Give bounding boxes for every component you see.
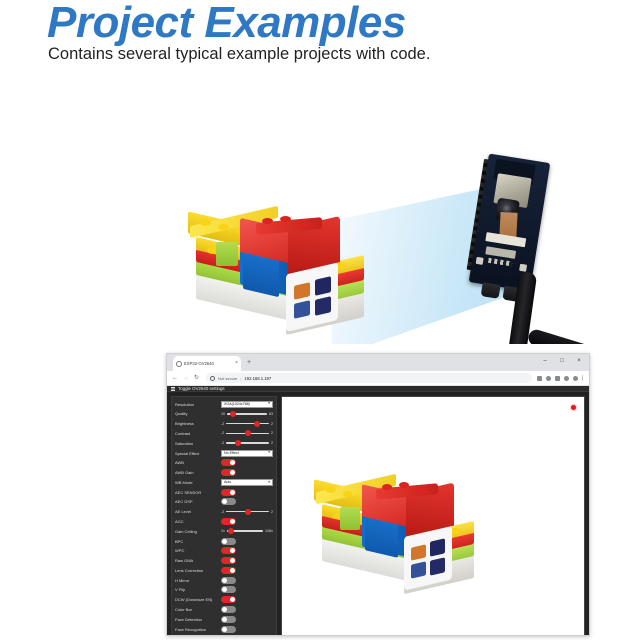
- setting-control: -22: [221, 431, 273, 435]
- setting-label: H Mirror: [175, 578, 218, 583]
- setting-toggle[interactable]: [221, 606, 236, 613]
- setting-toggle[interactable]: [221, 547, 236, 554]
- balcony-support-green: [216, 242, 238, 266]
- toggle-knob: [230, 548, 235, 553]
- setting-control: XGA(1024x768)▾: [221, 401, 273, 408]
- setting-label: WB Mode: [175, 480, 218, 485]
- slider-track[interactable]: [226, 442, 269, 444]
- setting-row: Gain Ceiling2x128x: [175, 527, 273, 535]
- setting-toggle[interactable]: [221, 538, 236, 545]
- setting-row: Quality1063: [175, 410, 273, 418]
- hamburger-icon: [171, 387, 175, 391]
- s-balcony-stud: [343, 491, 353, 497]
- setting-control: Auto▾: [221, 479, 273, 486]
- setting-control: 2x128x: [221, 529, 273, 533]
- extension-icon[interactable]: [537, 376, 542, 381]
- window-close-button[interactable]: ×: [575, 358, 583, 364]
- setting-control: -22: [221, 422, 273, 426]
- toggle-knob: [222, 607, 227, 612]
- setting-row: Lens Correction: [175, 566, 273, 574]
- toggle-knob: [230, 558, 235, 563]
- toggle-knob: [230, 597, 235, 602]
- setting-toggle[interactable]: [221, 459, 236, 466]
- address-bar[interactable]: Not secure | 192.168.1.197: [206, 373, 532, 383]
- slider-max-label: 63: [269, 412, 273, 416]
- setting-slider[interactable]: -22: [221, 510, 273, 514]
- toggle-knob: [230, 490, 235, 495]
- toggle-knob: [222, 627, 227, 632]
- setting-control: -22: [221, 441, 273, 445]
- setting-control: [221, 498, 273, 505]
- setting-row: AWB: [175, 459, 273, 467]
- page-subtitle: Contains several typical example project…: [48, 45, 430, 64]
- setting-label: Resolution: [175, 402, 218, 407]
- setting-row: Special EffectNo Effect▾: [175, 449, 273, 457]
- setting-control: -22: [221, 510, 273, 514]
- menu-dots-icon[interactable]: [582, 375, 584, 381]
- window-minimize-button[interactable]: –: [541, 358, 549, 364]
- esp32-camera-board: [459, 144, 566, 307]
- slider-track[interactable]: [227, 413, 267, 415]
- setting-toggle[interactable]: [221, 626, 236, 633]
- toggle-knob: [222, 587, 227, 592]
- setting-label: BPC: [175, 539, 218, 544]
- setting-control: [221, 606, 273, 613]
- setting-row: BPC: [175, 537, 273, 545]
- setting-slider[interactable]: 2x128x: [221, 529, 273, 533]
- setting-toggle[interactable]: [221, 586, 236, 593]
- slider-knob[interactable]: [245, 509, 251, 515]
- setting-dropdown[interactable]: No Effect▾: [221, 450, 273, 457]
- setting-toggle[interactable]: [221, 577, 236, 584]
- security-status-label: Not secure: [218, 376, 237, 381]
- dropdown-value: XGA(1024x768): [224, 402, 250, 406]
- slider-min-label: -2: [221, 441, 224, 445]
- roof-stud: [280, 216, 291, 222]
- toggle-knob: [222, 578, 227, 583]
- setting-label: AE Level: [175, 509, 218, 514]
- dropdown-value: No Effect: [224, 451, 239, 455]
- setting-label: Saturation: [175, 441, 218, 446]
- window-maximize-button[interactable]: □: [558, 358, 566, 364]
- ffc-connector: [485, 232, 526, 247]
- new-tab-button[interactable]: +: [247, 359, 251, 366]
- tab-title: ESP32-OV2640: [184, 361, 214, 366]
- setting-row: H Mirror: [175, 576, 273, 584]
- toggle-knob: [230, 460, 235, 465]
- s-balcony-support-green: [340, 507, 360, 530]
- slider-track[interactable]: [227, 530, 263, 532]
- setting-label: Special Effect: [175, 451, 218, 456]
- s-roof-stud: [382, 484, 392, 490]
- camera-stream-viewport: [281, 396, 585, 636]
- star-icon[interactable]: [546, 376, 551, 381]
- setting-dropdown[interactable]: XGA(1024x768)▾: [221, 401, 273, 408]
- toggle-knob: [230, 568, 235, 573]
- setting-control: [221, 567, 273, 574]
- tab-favicon-icon: [176, 361, 182, 367]
- browser-window: ESP32-OV2640 × + – □ × ← → ↻ Not secure …: [166, 353, 590, 636]
- setting-label: AWB: [175, 460, 218, 465]
- setting-label: Brightness: [175, 421, 218, 426]
- reset-button[interactable]: [476, 257, 484, 265]
- slider-max-label: 2: [271, 441, 273, 445]
- setting-label: Lens Correction: [175, 568, 218, 573]
- setting-row: Brightness-22: [175, 420, 273, 428]
- setting-row: Contrast-22: [175, 429, 273, 437]
- setting-control: 1063: [221, 412, 273, 416]
- setting-row: WPC: [175, 547, 273, 555]
- toggle-knob: [230, 519, 235, 524]
- usb-port-a: [481, 282, 501, 299]
- info-circle-icon: [210, 376, 215, 381]
- setting-slider[interactable]: -22: [221, 441, 273, 445]
- browser-tab[interactable]: ESP32-OV2640 ×: [173, 356, 241, 371]
- setting-label: AEC SENSOR: [175, 490, 218, 495]
- usb-cable-lower: [527, 328, 614, 344]
- setting-control: [221, 538, 273, 545]
- slider-min-label: 10: [221, 412, 225, 416]
- setting-toggle[interactable]: [221, 567, 236, 574]
- reload-button[interactable]: ↻: [194, 375, 199, 381]
- settings-panel: ResolutionXGA(1024x768)▾Quality1063Brigh…: [171, 396, 277, 636]
- window-controls: – □ ×: [541, 358, 583, 364]
- slider-knob[interactable]: [228, 528, 234, 534]
- page-root: Project Examples Contains several typica…: [0, 0, 640, 640]
- s-balcony-stud: [326, 487, 336, 493]
- setting-label: AGC: [175, 519, 218, 524]
- setting-row: Face Recognition: [175, 625, 273, 633]
- toggle-knob: [230, 470, 235, 475]
- roof-stud: [262, 218, 273, 224]
- chevron-down-icon: ▾: [268, 451, 270, 455]
- s-roof-stud: [399, 482, 409, 488]
- slider-knob[interactable]: [235, 440, 241, 446]
- setting-control: [221, 547, 273, 554]
- settings-toggle-label: Toggle OV2640 settings: [178, 386, 225, 391]
- s-roof-stud: [416, 488, 426, 494]
- dropdown-value: Auto: [224, 480, 231, 484]
- back-button[interactable]: ←: [172, 375, 178, 381]
- setting-row: AEC SENSOR: [175, 488, 273, 496]
- slider-max-label: 2: [271, 431, 273, 435]
- chevron-down-icon: ▾: [268, 481, 270, 485]
- setting-row: AWB Gain: [175, 468, 273, 476]
- setting-label: Color Bar: [175, 607, 218, 612]
- slider-knob[interactable]: [254, 421, 260, 427]
- setting-label: Face Recognition: [175, 627, 218, 632]
- setting-slider[interactable]: 1063: [221, 412, 273, 416]
- setting-control: [221, 557, 273, 564]
- setting-slider[interactable]: -22: [221, 431, 273, 435]
- tab-close-icon[interactable]: ×: [235, 361, 238, 366]
- setting-control: [221, 518, 273, 525]
- setting-toggle[interactable]: [221, 557, 236, 564]
- setting-row: Color Bar: [175, 605, 273, 613]
- slider-knob[interactable]: [245, 430, 251, 436]
- setting-control: [221, 469, 273, 476]
- setting-toggle[interactable]: [221, 596, 236, 603]
- camera-web-page: Toggle OV2640 settings ResolutionXGA(102…: [167, 386, 589, 636]
- stream-lego-duplo-house: [282, 397, 584, 636]
- setting-label: Face Detection: [175, 617, 218, 622]
- boot-button[interactable]: [519, 264, 527, 272]
- setting-control: [221, 596, 273, 603]
- setting-slider[interactable]: -22: [221, 422, 273, 426]
- setting-control: [221, 586, 273, 593]
- camera-body: ResolutionXGA(1024x768)▾Quality1063Brigh…: [167, 392, 589, 636]
- toggle-knob: [222, 499, 227, 504]
- browser-toolbar: ← → ↻ Not secure | 192.168.1.197: [167, 371, 589, 386]
- profile-icon[interactable]: [573, 376, 578, 381]
- setting-row: AEC DSP: [175, 498, 273, 506]
- slider-track[interactable]: [226, 511, 269, 513]
- page-title: Project Examples: [47, 0, 406, 48]
- setting-row: Face Detection: [175, 615, 273, 623]
- puzzle-icon[interactable]: [564, 376, 569, 381]
- setting-label: AEC DSP: [175, 499, 218, 504]
- browser-tabstrip: ESP32-OV2640 × + – □ ×: [167, 354, 589, 371]
- setting-label: AWB Gain: [175, 470, 218, 475]
- setting-control: No Effect▾: [221, 450, 273, 457]
- setting-label: WPC: [175, 548, 218, 553]
- devices-icon[interactable]: [555, 376, 560, 381]
- slider-min-label: -2: [221, 510, 224, 514]
- slider-min-label: -2: [221, 422, 224, 426]
- setting-control: [221, 459, 273, 466]
- setting-label: Contrast: [175, 431, 218, 436]
- toggle-knob: [222, 539, 227, 544]
- slider-track[interactable]: [226, 433, 269, 435]
- setting-row: AGC: [175, 517, 273, 525]
- slider-max-label: 2: [271, 422, 273, 426]
- setting-control: [221, 489, 273, 496]
- slider-max-label: 2: [271, 510, 273, 514]
- setting-control: [221, 616, 273, 623]
- setting-control: [221, 626, 273, 633]
- setting-row: DCW (Downsize EN): [175, 596, 273, 604]
- setting-row: V Flip: [175, 586, 273, 594]
- slider-min-label: -2: [221, 431, 224, 435]
- forward-button[interactable]: →: [183, 375, 189, 381]
- slider-min-label: 2x: [221, 529, 225, 533]
- setting-label: V Flip: [175, 587, 218, 592]
- page-header: Project Examples Contains several typica…: [0, 0, 640, 72]
- pcb-led-row: [488, 258, 512, 267]
- setting-row: AE Level-22: [175, 508, 273, 516]
- balcony-stud: [200, 220, 211, 226]
- setting-dropdown[interactable]: Auto▾: [221, 479, 273, 486]
- setting-toggle[interactable]: [221, 469, 236, 476]
- slider-knob[interactable]: [230, 411, 236, 417]
- browser-toolbar-icons: [537, 375, 584, 381]
- setting-toggle[interactable]: [221, 489, 236, 496]
- setting-toggle[interactable]: [221, 498, 236, 505]
- setting-label: DCW (Downsize EN): [175, 597, 218, 602]
- setting-label: Raw GMA: [175, 558, 218, 563]
- setting-control: [221, 577, 273, 584]
- setting-row: WB ModeAuto▾: [175, 478, 273, 486]
- toggle-knob: [222, 617, 227, 622]
- setting-row: ResolutionXGA(1024x768)▾: [175, 400, 273, 408]
- balcony-stud: [218, 224, 229, 230]
- slider-max-label: 128x: [265, 529, 273, 533]
- address-url-text: 192.168.1.197: [244, 376, 271, 381]
- address-separator: |: [240, 376, 241, 381]
- setting-toggle[interactable]: [221, 616, 236, 623]
- setting-label: Quality: [175, 411, 218, 416]
- setting-toggle[interactable]: [221, 518, 236, 525]
- setting-label: Gain Ceiling: [175, 529, 218, 534]
- roof-stud: [298, 222, 309, 228]
- setting-row: Saturation-22: [175, 439, 273, 447]
- chevron-down-icon: ▾: [268, 402, 270, 406]
- hero-illustration: [0, 72, 640, 344]
- slider-track[interactable]: [226, 423, 269, 425]
- setting-row: Raw GMA: [175, 557, 273, 565]
